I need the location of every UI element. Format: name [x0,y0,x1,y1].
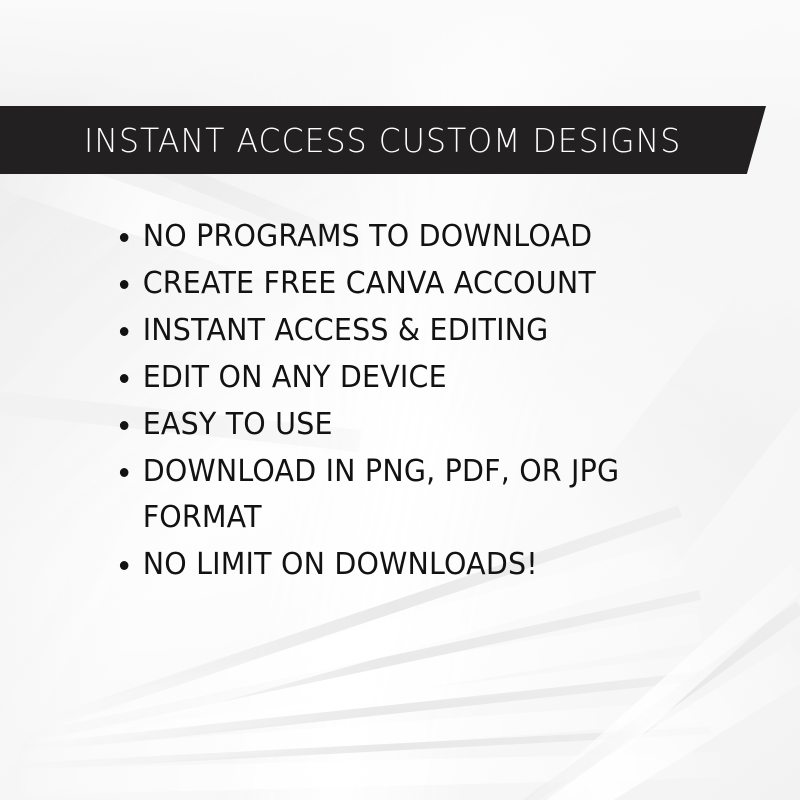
ribbon-shade-1 [3,672,700,755]
bullet-dot-icon [120,327,129,336]
ribbon-light-2 [4,655,691,757]
ribbon-shade-2 [1,727,710,771]
promo-graphic-canvas: INSTANT ACCESS CUSTOM DESIGNS NO PROGRAM… [0,0,800,800]
ribbon-light-7 [508,564,800,800]
list-item: NO LIMIT ON DOWNLOADS! [118,542,688,588]
bullet-dot-icon [120,374,129,383]
benefits-list: NO PROGRAMS TO DOWNLOAD CREATE FREE CANV… [118,214,718,589]
list-item-label: EDIT ON ANY DEVICE [143,360,447,395]
ribbon-light-1 [7,612,702,757]
list-item: INSTANT ACCESS & EDITING [118,308,688,354]
ribbon-shade-5 [456,601,800,800]
list-item-label: DOWNLOAD IN PNG, PDF, OR JPG FORMAT [143,454,620,535]
bullet-dot-icon [120,421,129,430]
list-item-label: EASY TO USE [143,407,333,442]
list-item-label: NO LIMIT ON DOWNLOADS! [143,547,538,582]
list-item-label: NO PROGRAMS TO DOWNLOAD [143,219,593,254]
list-item: EDIT ON ANY DEVICE [118,355,688,401]
ribbon-shade-3 [14,590,701,745]
page-title: INSTANT ACCESS CUSTOM DESIGNS [84,124,681,157]
bullet-dot-icon [120,280,129,289]
bullet-dot-icon [120,468,129,477]
list-item: DOWNLOAD IN PNG, PDF, OR JPG FORMAT [118,449,688,541]
ribbon-light-4 [0,752,720,796]
bullet-dot-icon [120,561,129,570]
list-item: EASY TO USE [118,402,688,448]
list-item: NO PROGRAMS TO DOWNLOAD [118,214,688,260]
ribbon-light-3 [1,700,701,773]
bullet-dot-icon [120,233,129,242]
ribbon-light-6 [425,643,800,800]
list-item-label: CREATE FREE CANVA ACCOUNT [143,266,596,301]
list-item-label: INSTANT ACCESS & EDITING [143,313,549,348]
list-item: CREATE FREE CANVA ACCOUNT [118,261,688,307]
title-banner: INSTANT ACCESS CUSTOM DESIGNS [0,106,766,174]
